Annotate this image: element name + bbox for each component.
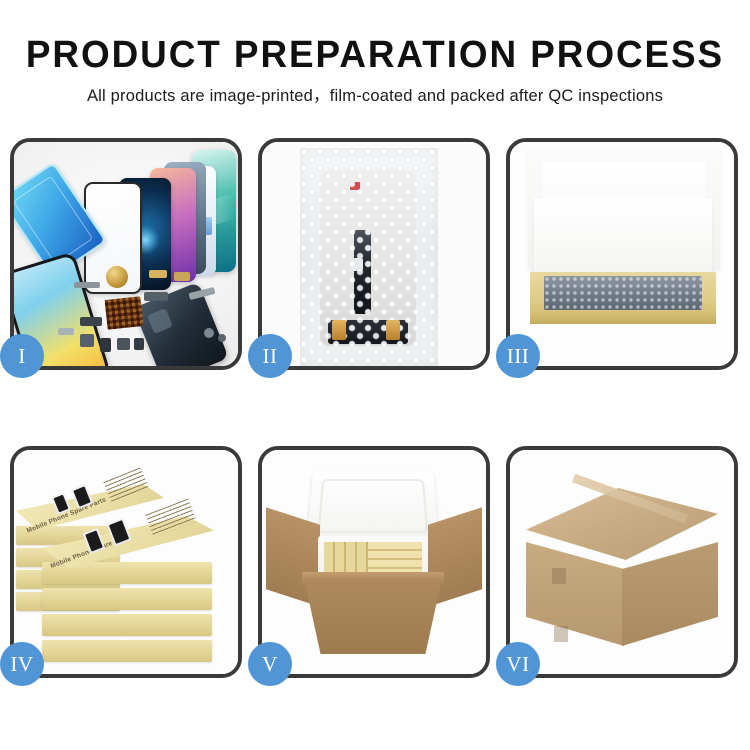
yellow-box-tray (530, 272, 716, 324)
step-badge-4: IV (0, 642, 44, 686)
part-contact (174, 272, 190, 281)
step-panel-6: VI (506, 446, 738, 678)
carton-right-face (622, 542, 718, 646)
step-image-2 (262, 142, 486, 366)
foam-sheet (534, 198, 712, 276)
step-badge-3: III (496, 334, 540, 378)
sealed-carton-illustration (510, 450, 734, 674)
step-image-5 (262, 450, 486, 674)
step-image-1 (14, 142, 238, 366)
bubble-texture (300, 148, 438, 366)
bubble-wrap-illustration (262, 142, 486, 366)
carton-handle-tab (554, 626, 568, 642)
step-image-4: Mobile Phone Spare Parts Mobile Phone Sp… (14, 450, 238, 674)
step-image-3 (510, 142, 734, 366)
carton-handle-tab (552, 568, 566, 584)
step-image-6 (510, 450, 734, 674)
step-badge-5: V (248, 642, 292, 686)
part-flex-gold (149, 270, 167, 278)
part-sensor (134, 338, 144, 350)
stacked-boxes-illustration: Mobile Phone Spare Parts Mobile Phone Sp… (14, 450, 238, 674)
part-screw-small (218, 334, 226, 342)
step-badge-2: II (248, 334, 292, 378)
bubble-wrap-bag (300, 148, 438, 366)
part-bracket (58, 328, 74, 335)
step-badge-1: I (0, 334, 44, 378)
part-chip (100, 338, 111, 352)
steps-grid: I II (0, 0, 750, 750)
part-screw (204, 328, 214, 338)
product-preparation-infographic: PRODUCT PREPARATION PROCESS All products… (0, 0, 750, 750)
step-panel-3: III (506, 138, 738, 370)
step-badge-6: VI (496, 642, 540, 686)
logic-board-part (105, 296, 144, 330)
carton-body (304, 578, 442, 654)
packed-item-grey (544, 276, 702, 310)
step-panel-1: I (10, 138, 242, 370)
step-panel-5: V (258, 446, 490, 678)
box-front-lip (530, 310, 716, 324)
gold-flex-left (332, 320, 346, 340)
part-camera (80, 334, 94, 347)
gold-flex-right (386, 320, 400, 340)
part-module (117, 338, 130, 350)
box-body (42, 614, 212, 636)
step-panel-4: Mobile Phone Spare Parts Mobile Phone Sp… (10, 446, 242, 678)
part-cable (144, 292, 168, 301)
inner-box-illustration (510, 142, 734, 366)
box-body (42, 640, 212, 662)
step-panel-2: II (258, 138, 490, 370)
box-body (42, 588, 212, 610)
carton-left-face (526, 542, 624, 646)
part-strip (74, 282, 100, 288)
carton-loading-illustration (262, 450, 486, 674)
speaker-part-icon (106, 266, 128, 288)
part-connector (80, 317, 102, 326)
phone-parts-illustration (14, 142, 238, 366)
foam-case-lid (306, 471, 440, 544)
